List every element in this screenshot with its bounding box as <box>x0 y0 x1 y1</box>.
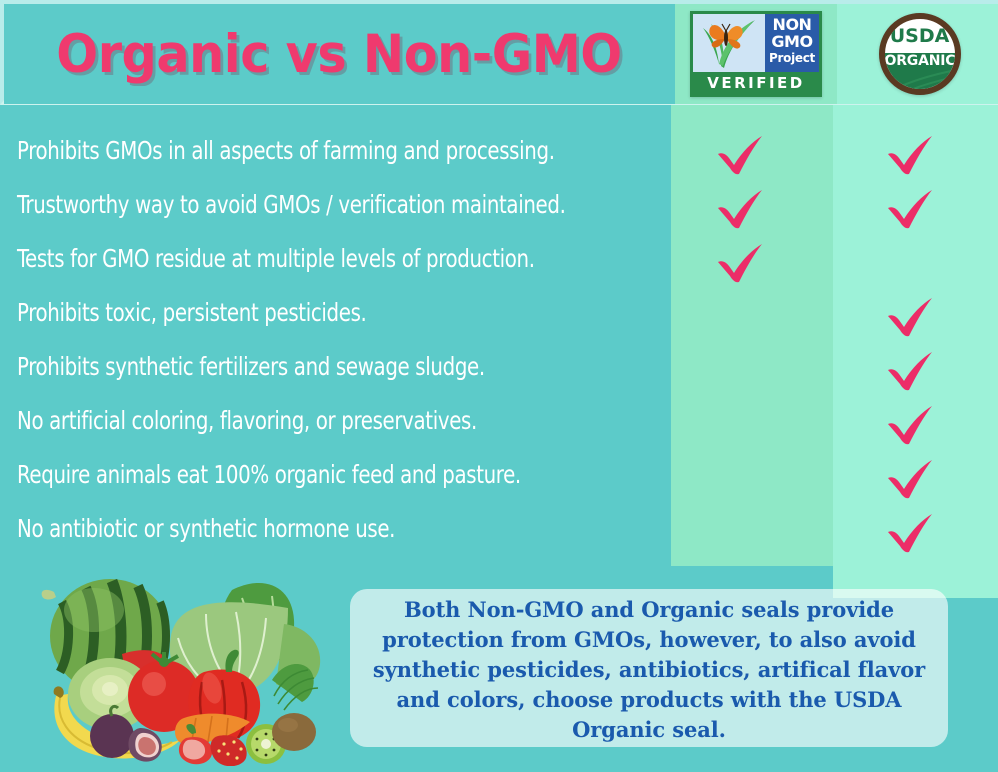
page-title: Organic vs Non-GMO <box>57 24 622 85</box>
check-icon-organic <box>886 296 934 338</box>
row-label: No antibiotic or synthetic hormone use. <box>17 514 585 543</box>
row-label: Require animals eat 100% organic feed an… <box>17 460 585 489</box>
column-header-nongmo: NON GMO Project VERIFIED <box>675 4 837 104</box>
row-label: Tests for GMO residue at multiple levels… <box>17 244 585 273</box>
row-label: Prohibits toxic, persistent pesticides. <box>17 298 585 327</box>
title-area: Organic vs Non-GMO <box>4 4 675 104</box>
check-icon-organic <box>886 512 934 554</box>
check-icon-organic <box>886 458 934 500</box>
seal-verified-banner: VERIFIED <box>693 72 819 94</box>
column-header-organic: USDA ORGANIC <box>837 4 998 104</box>
row-label: Trustworthy way to avoid GMOs / verifica… <box>17 190 585 219</box>
seal-line-non: NON <box>765 17 819 33</box>
seal-organic-text: ORGANIC <box>885 53 955 69</box>
seal-line-gmo: GMO <box>765 34 819 50</box>
callout-text: Both Non-GMO and Organic seals provide p… <box>368 595 930 745</box>
row-label: Prohibits synthetic fertilizers and sewa… <box>17 352 585 381</box>
check-icon-organic <box>886 350 934 392</box>
non-gmo-project-verified-seal: NON GMO Project VERIFIED <box>690 11 822 97</box>
check-icon-nongmo <box>716 134 764 176</box>
row-label: Prohibits GMOs in all aspects of farming… <box>17 136 585 165</box>
seal-usda-text: USDA <box>885 25 955 47</box>
check-icon-organic <box>886 188 934 230</box>
check-icon-organic <box>886 404 934 446</box>
infographic-root: Organic vs Non-GMO <box>0 0 998 772</box>
callout-box: Both Non-GMO and Organic seals provide p… <box>350 589 948 747</box>
check-icon-nongmo <box>716 242 764 284</box>
row-label: No artificial coloring, flavoring, or pr… <box>17 406 585 435</box>
header: Organic vs Non-GMO <box>0 0 998 105</box>
check-icon-organic <box>886 134 934 176</box>
fruits-and-vegetables-illustration <box>36 568 348 766</box>
check-icon-nongmo <box>716 188 764 230</box>
seal-sky-panel <box>693 14 765 72</box>
seal-line-project: Project <box>765 52 819 64</box>
seal-text-panel: NON GMO Project <box>765 14 819 72</box>
butterfly-icon <box>707 20 747 54</box>
usda-organic-seal: USDA ORGANIC <box>879 13 961 95</box>
